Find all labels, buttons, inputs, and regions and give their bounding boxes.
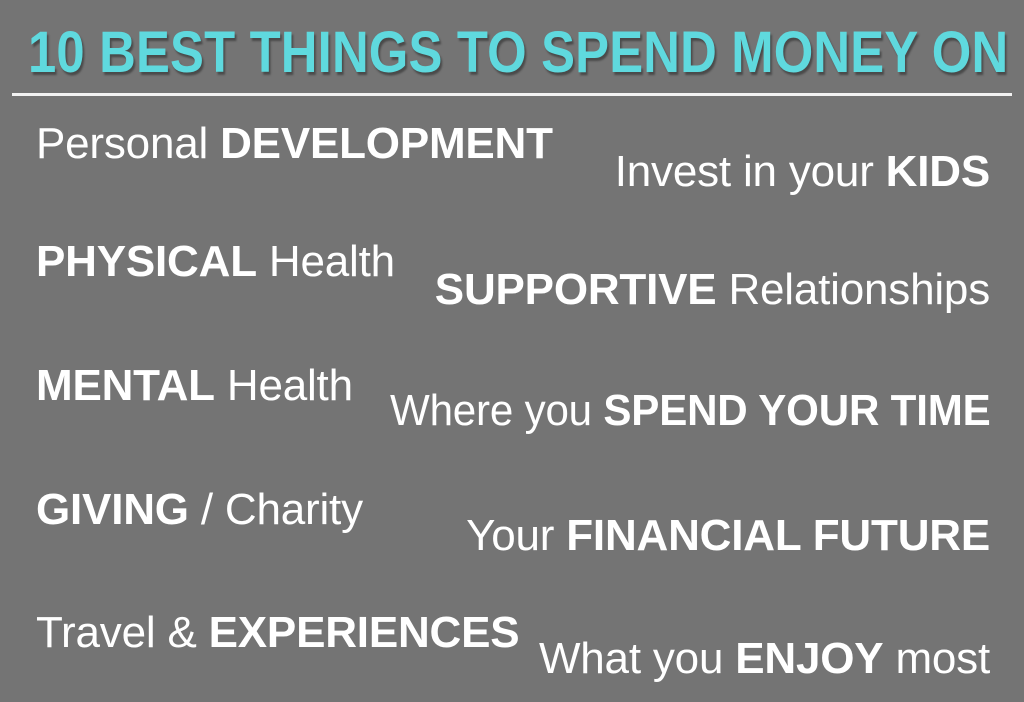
list-item-spend-your-time: Where you SPEND YOUR TIME bbox=[390, 385, 990, 437]
item-emphasis-text: GIVING bbox=[36, 485, 189, 534]
item-lead-text: Invest in your bbox=[615, 147, 886, 196]
item-emphasis-text: DEVELOPMENT bbox=[220, 119, 553, 168]
item-lead-text: Where you bbox=[390, 386, 603, 435]
item-emphasis-text: ENJOY bbox=[735, 634, 883, 683]
item-lead-text: Personal bbox=[36, 119, 220, 168]
title-divider bbox=[12, 93, 1012, 96]
item-emphasis-text: KIDS bbox=[886, 147, 990, 196]
list-item-invest-in-your-kids: Invest in your KIDS bbox=[615, 146, 990, 198]
item-tail-text: Health bbox=[257, 237, 395, 286]
item-tail-text: / Charity bbox=[189, 485, 363, 534]
item-lead-text: What you bbox=[539, 634, 735, 683]
list-item-mental-health: MENTAL Health bbox=[36, 360, 353, 412]
item-emphasis-text: PHYSICAL bbox=[36, 237, 257, 286]
item-tail-text: Health bbox=[215, 361, 353, 410]
list-item-supportive-relationships: SUPPORTIVE Relationships bbox=[435, 264, 990, 316]
item-lead-text: Your bbox=[466, 511, 566, 560]
list-item-giving-charity: GIVING / Charity bbox=[36, 484, 363, 536]
poster-canvas: 10 BEST THINGS TO SPEND MONEY ON Persona… bbox=[0, 0, 1024, 702]
item-lead-text: Travel & bbox=[36, 608, 209, 657]
item-emphasis-text: MENTAL bbox=[36, 361, 215, 410]
items-list: Personal DEVELOPMENT Invest in your KIDS… bbox=[0, 100, 1024, 702]
item-tail-text: most bbox=[883, 634, 990, 683]
item-emphasis-text: FINANCIAL FUTURE bbox=[566, 511, 990, 560]
list-item-travel-experiences: Travel & EXPERIENCES bbox=[36, 607, 519, 659]
list-item-personal-development: Personal DEVELOPMENT bbox=[36, 118, 553, 170]
list-item-what-you-enjoy-most: What you ENJOY most bbox=[539, 633, 990, 685]
item-emphasis-text: SUPPORTIVE bbox=[435, 265, 717, 314]
page-title: 10 BEST THINGS TO SPEND MONEY ON bbox=[28, 22, 886, 84]
poster-header: 10 BEST THINGS TO SPEND MONEY ON bbox=[0, 0, 1024, 100]
item-tail-text: Relationships bbox=[716, 265, 990, 314]
item-emphasis-text: EXPERIENCES bbox=[209, 608, 520, 657]
list-item-financial-future: Your FINANCIAL FUTURE bbox=[466, 510, 990, 562]
item-emphasis-text: SPEND YOUR TIME bbox=[603, 386, 990, 435]
list-item-physical-health: PHYSICAL Health bbox=[36, 236, 395, 288]
